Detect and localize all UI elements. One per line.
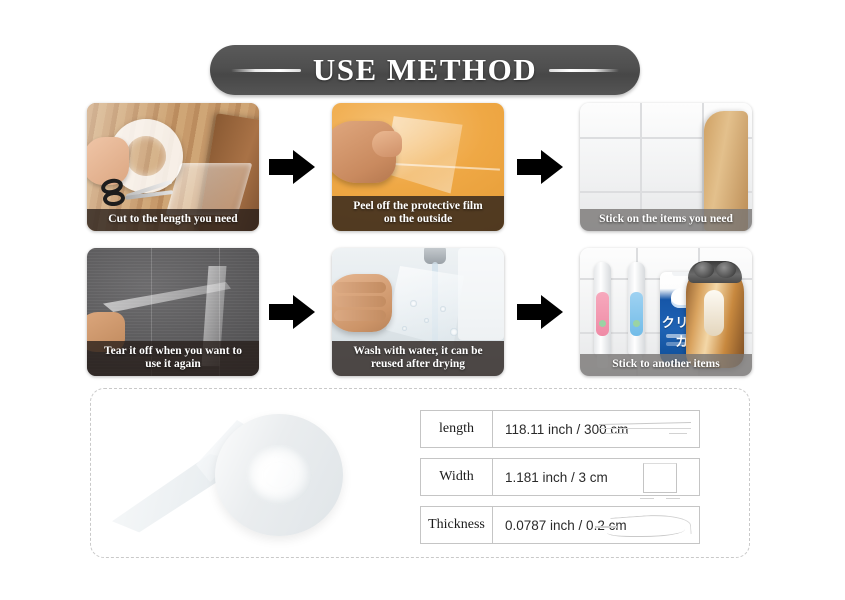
step-panel-5: Wash with water, it can be reused after … (332, 248, 504, 376)
shaver-rotary-head-left (694, 262, 714, 278)
tape-roll (215, 414, 343, 536)
spec-value-length: 118.11 inch / 300 cm (493, 411, 699, 447)
infographic-page: USE METHOD Cut to the length you need (0, 0, 845, 600)
shaver-head-plate (688, 261, 742, 283)
width-tick-left (640, 498, 654, 499)
toothbrush-band (596, 292, 609, 336)
arrow-right-icon (269, 150, 315, 184)
finger (334, 296, 386, 307)
spec-label-thickness: Thickness (421, 507, 493, 543)
page-title: USE METHOD (313, 52, 537, 88)
water-droplet (402, 326, 407, 331)
thumb (372, 131, 402, 157)
arrow-right-icon (517, 295, 563, 329)
step-panel-1: Cut to the length you need (87, 103, 259, 231)
step-6-caption: Stick to another items (580, 354, 752, 376)
water-droplet (410, 300, 417, 307)
product-image (110, 396, 410, 554)
scissors-grip-lower (103, 190, 126, 206)
step-5-caption-line-2: reused after drying (337, 358, 499, 371)
shaver-rotary-head-right (716, 262, 736, 278)
step-panel-2: Peel off the protective film on the outs… (332, 103, 504, 231)
width-tick-right (666, 498, 680, 499)
step-5-caption-line-1: Wash with water, it can be (337, 345, 499, 358)
water-droplet (450, 328, 458, 336)
step-4-caption: Tear it off when you want to use it agai… (87, 341, 259, 376)
arrow-head (541, 295, 563, 329)
step-4-caption-line-2: use it again (92, 358, 254, 371)
water-droplet (440, 306, 446, 312)
hand (332, 274, 392, 332)
arrow-head (541, 150, 563, 184)
hand (332, 121, 396, 183)
step-2-caption-line-2: on the outside (337, 213, 499, 226)
step-5-caption: Wash with water, it can be reused after … (332, 341, 504, 376)
background-blur (458, 248, 504, 340)
scissors-icon (101, 177, 171, 211)
finger (334, 282, 386, 293)
step-panel-4: Tear it off when you want to use it agai… (87, 248, 259, 376)
step-3-caption: Stick on the items you need (580, 209, 752, 231)
arrow-right-icon (517, 150, 563, 184)
electric-toothbrush-pink (594, 262, 611, 356)
spec-label-width: Width (421, 459, 493, 495)
step-2-caption-line-1: Peel off the protective film (337, 200, 499, 213)
shaver-front-panel (704, 290, 724, 336)
toothbrush-button (599, 320, 606, 327)
page-title-banner: USE METHOD (210, 45, 640, 95)
spec-value-width: 1.181 inch / 3 cm (493, 459, 699, 495)
electric-shaver (686, 264, 744, 368)
spec-row-thickness: Thickness 0.0787 inch / 0.2 cm (420, 506, 700, 544)
step-panel-6: クリニカ Stick to another items (580, 248, 752, 376)
arrow-head (293, 150, 315, 184)
spec-table: length 118.11 inch / 300 cm Width 1.181 … (420, 410, 700, 554)
spec-label-length: length (421, 411, 493, 447)
banner-rule-right (549, 69, 619, 72)
spec-row-length: length 118.11 inch / 300 cm (420, 410, 700, 448)
toothbrush-band (630, 292, 643, 336)
step-2-caption: Peel off the protective film on the outs… (332, 196, 504, 231)
arrow-head (293, 295, 315, 329)
spec-value-thickness: 0.0787 inch / 0.2 cm (493, 507, 699, 543)
electric-toothbrush-blue (628, 262, 645, 356)
spec-row-width: Width 1.181 inch / 3 cm (420, 458, 700, 496)
water-droplet (424, 318, 429, 323)
banner-rule-left (231, 69, 301, 72)
arrow-right-icon (269, 295, 315, 329)
step-1-caption: Cut to the length you need (87, 209, 259, 231)
toothbrush-button (633, 320, 640, 327)
step-panel-3: Stick on the items you need (580, 103, 752, 231)
step-4-caption-line-1: Tear it off when you want to (92, 345, 254, 358)
finger (334, 310, 386, 321)
